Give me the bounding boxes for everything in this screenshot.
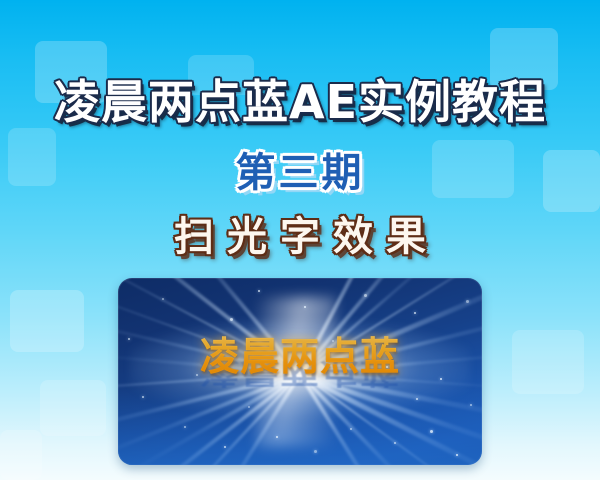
sparkle: [142, 396, 144, 398]
light-ray: [299, 372, 482, 465]
sparkle: [466, 300, 469, 303]
sparkle: [394, 442, 396, 444]
light-ray: [118, 372, 301, 465]
light-ray: [118, 372, 301, 465]
light-ray: [118, 372, 301, 465]
sparkle: [350, 428, 352, 430]
light-ray: [298, 372, 463, 465]
episode-label: 第三期: [0, 148, 600, 198]
light-ray: [118, 372, 300, 446]
background-square: [0, 430, 42, 480]
preview-card: 凌晨两点蓝 凌晨两点蓝: [118, 278, 482, 465]
sparkle: [430, 430, 433, 433]
sparkle: [162, 298, 164, 300]
sparkle: [456, 454, 458, 456]
background-square: [512, 330, 584, 394]
light-ray: [299, 372, 482, 465]
sparkle: [414, 312, 416, 314]
sparkle: [258, 290, 260, 292]
light-ray: [299, 372, 472, 465]
sparkle: [184, 426, 186, 428]
light-ray: [118, 372, 301, 465]
preview-text: 凌晨两点蓝: [118, 334, 482, 382]
light-ray: [299, 372, 482, 465]
sparkle: [314, 450, 317, 453]
sparkle: [470, 404, 472, 406]
sparkle: [364, 294, 367, 297]
sparkle: [230, 318, 233, 321]
effect-name: 扫光字效果: [0, 212, 600, 262]
background-square: [40, 380, 106, 436]
sparkle: [416, 398, 418, 400]
sparkle: [224, 446, 226, 448]
poster-canvas: 凌晨两点蓝AE实例教程 第三期 扫光字效果 凌晨两点蓝 凌晨两点蓝: [0, 0, 600, 480]
light-ray: [163, 372, 302, 465]
sparkle: [304, 306, 306, 308]
sparkle: [248, 406, 250, 408]
floor-haze: [118, 387, 482, 465]
background-square: [10, 290, 84, 352]
main-title: 凌晨两点蓝AE实例教程: [0, 74, 600, 130]
sparkle: [276, 436, 278, 438]
